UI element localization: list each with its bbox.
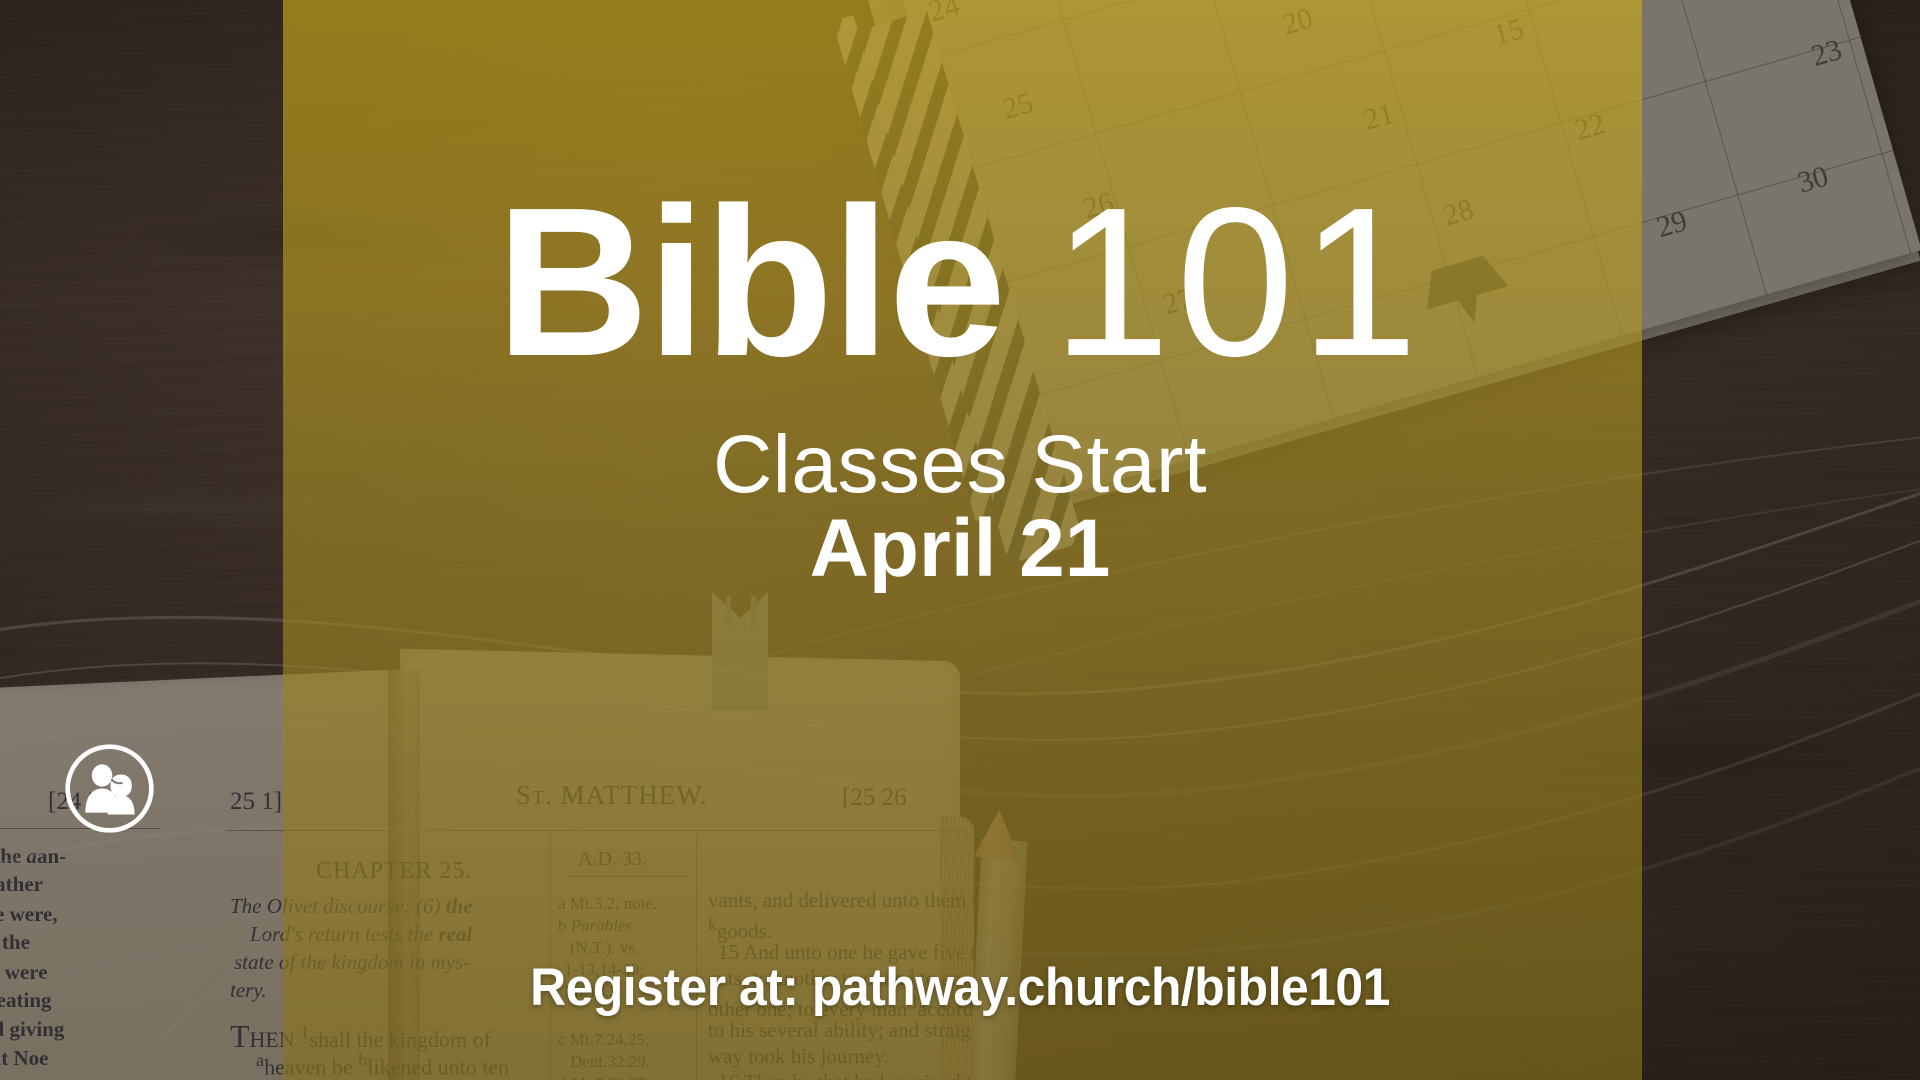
poster-content: Bible101 Classes Start April 21 Register…: [0, 0, 1920, 1080]
subtitle-classes-start: Classes Start: [0, 424, 1920, 506]
people-couple-circle-logo: [63, 742, 156, 835]
page-title: Bible101: [0, 176, 1920, 388]
subtitle-date: April 21: [0, 508, 1920, 590]
register-cta[interactable]: Register at: pathway.church/bible101: [58, 957, 1863, 1018]
poster-canvas: 24 19 13 8 25 20 14 9 26 21 15 16 27 28 …: [0, 0, 1920, 1080]
title-primary: Bible: [496, 163, 1004, 400]
title-secondary: 101: [1052, 163, 1424, 400]
